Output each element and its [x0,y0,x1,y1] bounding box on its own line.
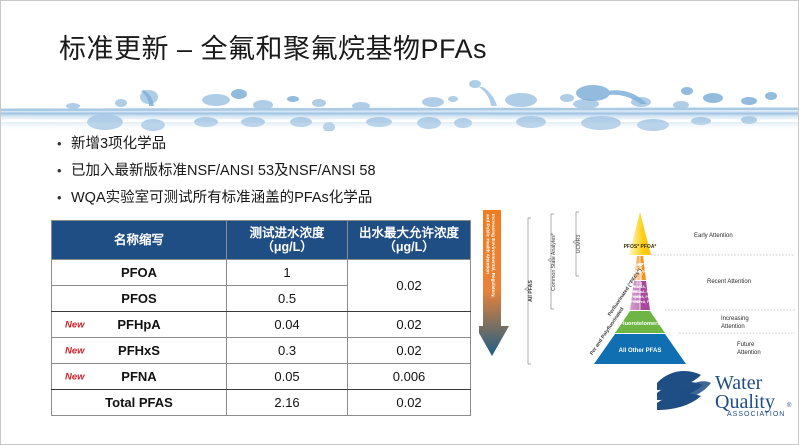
effluent-line2: （μg/L） [350,240,468,254]
tier-purple-right-labels: PFTeDA, PFTrDA,PFDoA, PFUnA, PFDA, PFHxA… [632,285,660,304]
new-badge: New [65,345,85,356]
cell-name-text: PFHxS [118,343,160,358]
influent-line2: （μg/L） [229,240,345,254]
table-row: New PFHxS 0.3 0.02 [52,338,471,364]
cell-name: PFOS [52,286,227,312]
influent-line1: 测试进水浓度 [229,226,345,240]
attention-label-recent: Recent Attention [707,279,751,285]
attention-label-early: Early Attention [694,233,733,239]
water-splash-banner [1,75,799,131]
bullet-text: 已加入最新版标准NSF/ANSI 53及NSF/ANSI 58 [71,162,376,180]
effluent-line1: 出水最大允许浓度 [350,226,468,240]
cell-name: New PFNA [52,364,227,390]
column-header-name: 名称缩写 [52,221,227,260]
svg-text:Increasing: Increasing [721,316,749,322]
table-row: New PFNA 0.05 0.006 [52,364,471,390]
wqa-logo: Water Quality ® ASSOCIATION [651,363,797,425]
cell-name-text: PFNA [121,369,156,384]
table-row: New PFHpA 0.04 0.02 [52,312,471,338]
cell-influent: 0.05 [227,364,348,390]
table-row: Total PFAS 2.16 0.02 [52,390,471,416]
cell-name-text: PFHpA [117,317,160,332]
cell-name: New PFHpA [52,312,227,338]
new-badge: New [65,319,85,330]
logo-registered: ® [787,402,792,409]
cell-name: New PFHxS [52,338,227,364]
bullet-text: 新增3项化学品 [71,135,166,153]
bullet-text: WQA实验室可测试所有标准涵盖的PFAs化学品 [71,189,372,207]
tier-label-apex: PFOS* PFOA* [624,244,657,250]
pfas-limits-table: 名称缩写 测试进水浓度 （μg/L） 出水最大允许浓度 （μg/L） PFOA … [51,220,471,416]
cell-influent: 0.04 [227,312,348,338]
bracket-label-state-analytes: Common State Analytes* [551,233,557,291]
cell-effluent: 0.02 [348,390,471,416]
pfas-pyramid-graphic: Increasing Environmental, Regulatory, an… [479,204,799,384]
bullet-list: • 新增3项化学品 • 已加入最新版标准NSF/ANSI 53及NSF/ANSI… [57,135,487,216]
svg-text:Future: Future [737,342,755,348]
bullet-item: • 新增3项化学品 [57,135,487,153]
cell-name: Total PFAS [52,390,227,416]
cell-influent: 2.16 [227,390,348,416]
svg-text:Attention: Attention [737,350,761,356]
slide-canvas: 标准更新 – 全氟和聚氟烷基物PFAs [0,0,799,445]
svg-text:PFPeA, PFBA*: PFPeA, PFBA* [634,300,658,304]
table-row: PFOA 1 0.02 [52,260,471,286]
logo-line3: ASSOCIATION [727,411,785,418]
bullet-item: • 已加入最新版标准NSF/ANSI 53及NSF/ANSI 58 [57,162,487,180]
table-header-row: 名称缩写 测试进水浓度 （μg/L） 出水最大允许浓度 （μg/L） [52,221,471,260]
svg-text:PFDA, PFHxA,: PFDA, PFHxA, [634,295,657,299]
cell-name: PFOA [52,260,227,286]
bracket-label-all-pfas: All PFAS [528,280,534,302]
cell-effluent-merged: 0.02 [348,260,471,312]
bullet-marker: • [57,189,71,207]
cell-influent: 0.5 [227,286,348,312]
bullet-marker: • [57,162,71,180]
tier-label-fluorotelomers: Fluorotelomers [620,321,661,327]
arrow-label-line1: Increasing Environmental, Regulatory, [491,214,496,298]
svg-text:PFDoA, PFUnA,: PFDoA, PFUnA, [633,290,658,294]
tier-label-all-other-pfas: All Other PFAS [619,348,662,354]
bullet-marker: • [57,135,71,153]
cell-influent: 0.3 [227,338,348,364]
page-title: 标准更新 – 全氟和聚氟烷基物PFAs [59,27,487,66]
wave-mark-icon [657,371,711,410]
svg-text:Attention: Attention [721,324,745,330]
cell-influent: 1 [227,260,348,286]
logo-line2: Quality [715,391,775,413]
new-badge: New [65,371,85,382]
bracket-label-ucmr3: UCMR3 [576,235,582,254]
arrow-label-line2: and Public Health Attention [486,214,491,274]
column-header-influent: 测试进水浓度 （μg/L） [227,221,348,260]
cell-effluent: 0.006 [348,364,471,390]
cell-effluent: 0.02 [348,312,471,338]
bullet-item: • WQA实验室可测试所有标准涵盖的PFAs化学品 [57,189,487,207]
column-header-effluent: 出水最大允许浓度 （μg/L） [348,221,471,260]
cell-effluent: 0.02 [348,338,471,364]
